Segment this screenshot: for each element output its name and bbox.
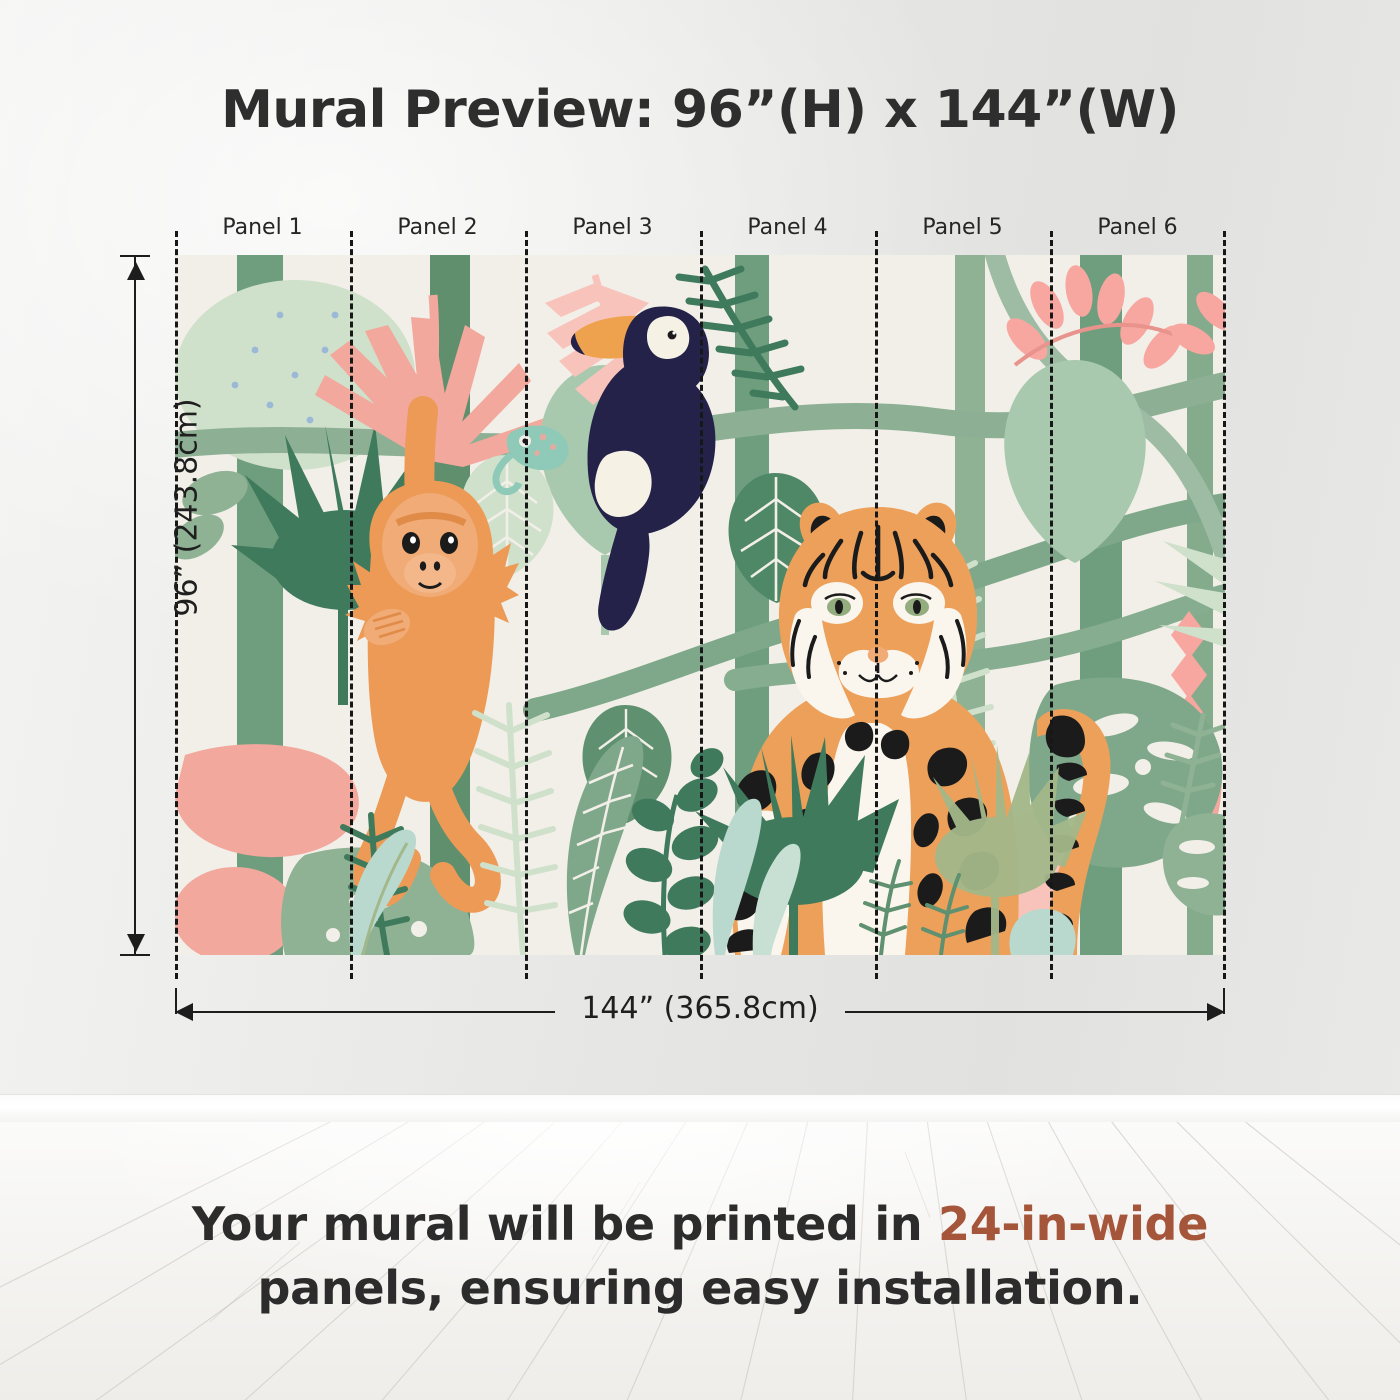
panel-label-4: Panel 4 (700, 214, 875, 248)
caption-line-2: panels, ensuring easy installation. (0, 1256, 1400, 1320)
height-dimension-line (134, 255, 136, 955)
baseboard (0, 1094, 1400, 1124)
panel-label-2: Panel 2 (350, 214, 525, 248)
mural-preview-scene: Mural Preview: 96”(H) x 144”(W) Panel 1 … (0, 0, 1400, 1400)
width-dimension-line-left (190, 1011, 555, 1013)
installation-caption: Your mural will be printed in 24-in-wide… (0, 1192, 1400, 1320)
panel-label-6: Panel 6 (1050, 214, 1225, 248)
width-dimension-line-right (845, 1011, 1210, 1013)
caption-line-1-text: Your mural will be printed in (192, 1197, 938, 1251)
mural-edge-right (1223, 231, 1226, 979)
height-arrow-up (127, 262, 145, 280)
caption-line-1: Your mural will be printed in 24-in-wide (0, 1192, 1400, 1256)
width-arrow-right (1207, 1003, 1225, 1021)
panel-divider-4 (875, 231, 878, 979)
page-title: Mural Preview: 96”(H) x 144”(W) (0, 80, 1400, 140)
panel-divider-5 (1050, 231, 1053, 979)
panel-label-3: Panel 3 (525, 214, 700, 248)
height-dimension-label: 96” (243.8cm) (170, 378, 205, 638)
panel-divider-1 (350, 231, 353, 979)
panel-divider-3 (700, 231, 703, 979)
panel-divider-2 (525, 231, 528, 979)
width-dimension-label: 144” (365.8cm) (560, 991, 840, 1026)
panel-label-1: Panel 1 (175, 214, 350, 248)
panel-label-5: Panel 5 (875, 214, 1050, 248)
width-arrow-left (175, 1003, 193, 1021)
height-arrow-down (127, 934, 145, 952)
caption-accent-panel-width: 24-in-wide (938, 1197, 1208, 1251)
